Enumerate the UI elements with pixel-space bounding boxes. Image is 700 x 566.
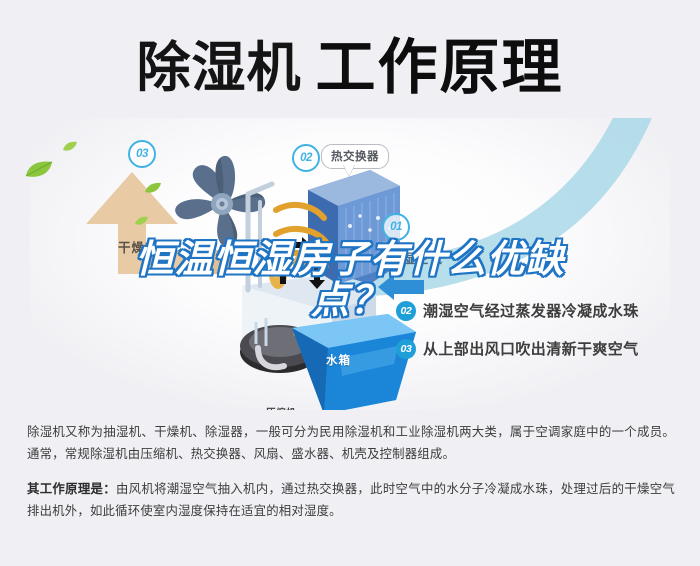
body-paragraph-2-lead: 其工作原理是： bbox=[27, 482, 116, 496]
compressor-label: 压缩机 bbox=[266, 405, 296, 410]
air-inlet-arrow-icon bbox=[378, 274, 424, 300]
diagram-badge-02: 02 bbox=[292, 144, 320, 172]
legend-list: 02 潮湿空气经过蒸发器冷凝成水珠 03 从上部出风口吹出清新干爽空气 bbox=[396, 300, 696, 376]
legend-text-03: 从上部出风口吹出清新干爽空气 bbox=[423, 338, 639, 359]
title-part-primary: 除湿机 bbox=[137, 41, 302, 95]
heat-exchanger-callout: 热交换器 bbox=[321, 144, 389, 169]
diagram-badge-03: 03 bbox=[128, 140, 156, 168]
body-paragraph-1: 除湿机又称为抽湿机、干燥机、除湿器，一般可分为民用除湿机和工业除湿机两大类，属于… bbox=[27, 421, 675, 465]
page-root: 除湿机 工作原理 bbox=[0, 0, 700, 566]
moist-air-label: 潮湿空气 bbox=[389, 248, 443, 267]
leaf-icon bbox=[134, 214, 149, 232]
legend-badge-02: 02 bbox=[396, 301, 416, 321]
legend-item: 03 从上部出风口吹出清新干爽空气 bbox=[396, 338, 696, 359]
leaf-icon bbox=[24, 160, 54, 185]
title-part-secondary: 工作原理 bbox=[316, 38, 564, 98]
legend-item: 02 潮湿空气经过蒸发器冷凝成水珠 bbox=[396, 300, 696, 321]
legend-badge-03: 03 bbox=[396, 339, 416, 359]
refrigerant-coil-icon bbox=[238, 170, 350, 310]
leaf-icon bbox=[144, 182, 162, 200]
body-paragraph-2-rest: 由风机将潮湿空气抽入机内，通过热交换器，此时空气中的水分子冷凝成水珠，处理过后的… bbox=[27, 482, 675, 518]
leaf-icon bbox=[62, 140, 78, 158]
page-title: 除湿机 工作原理 bbox=[0, 24, 700, 112]
water-tank-label: 水箱 bbox=[326, 352, 351, 368]
body-paragraph-2: 其工作原理是：由风机将潮湿空气抽入机内，通过热交换器，此时空气中的水分子冷凝成水… bbox=[27, 478, 675, 522]
diagram-badge-01: 01 bbox=[382, 213, 410, 241]
callout-tail-icon bbox=[343, 164, 355, 176]
dry-air-label: 干燥空气 bbox=[118, 237, 172, 256]
legend-text-02: 潮湿空气经过蒸发器冷凝成水珠 bbox=[423, 300, 639, 321]
article-body: 除湿机又称为抽湿机、干燥机、除湿器，一般可分为民用除湿机和工业除湿机两大类，属于… bbox=[27, 421, 675, 535]
